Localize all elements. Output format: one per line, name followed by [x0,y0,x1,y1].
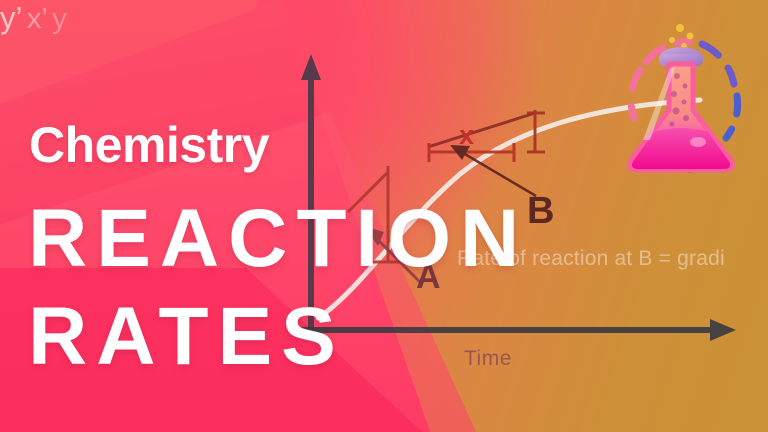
x-axis-label: Time [464,347,512,371]
y-prime-label: y’ [0,0,22,35]
y-label: y [52,3,67,35]
video-thumbnail: x y’ x’ y A B Rate of reaction at B = gr… [0,0,768,432]
point-b-label: B [527,190,554,233]
tangent-line-b [428,113,535,147]
page-title-line2: RATES [28,290,345,384]
x-prime-label: x’ [27,3,48,35]
subject-title: Chemistry [29,116,269,174]
page-title-line1: REACTION [28,192,528,286]
x-axis-arrow [300,319,736,341]
x-marker-label: x [459,120,474,151]
conical-flask-icon [594,14,764,184]
